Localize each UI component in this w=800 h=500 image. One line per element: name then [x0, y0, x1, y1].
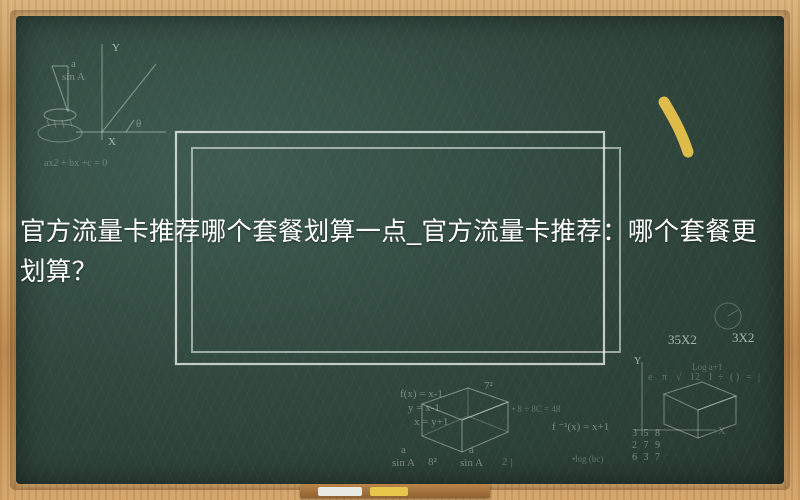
chalk-fx-line-2: y = x-1	[408, 402, 440, 414]
chalk-symbol-radical: √	[676, 372, 682, 383]
chalk-symbol-divide: ÷	[718, 372, 724, 383]
chalk-sine-rule-a: a sin A	[392, 444, 415, 470]
chalk-fx-line-1: f(x) = x-1	[400, 388, 443, 400]
chalk-number-12: 12	[690, 372, 700, 383]
chalk-digits-row-3: 6 3 7	[632, 452, 662, 463]
chalk-axis-x-right: X	[718, 426, 725, 437]
chalk-inverse-function: f ⁻¹(x) = x+1	[552, 420, 609, 433]
chalk-stick-yellow	[370, 487, 408, 496]
chalk-angle-label: θ	[136, 118, 141, 130]
page-title: 官方流量卡推荐哪个套餐划算一点_官方流量卡推荐：哪个套餐更划算？	[16, 212, 784, 292]
chalk-exp-7sq: 7²	[484, 380, 493, 392]
chalk-symbol-pi: π	[662, 372, 667, 383]
chalk-misc-expression: • 8 ÷ 8C = 48	[512, 404, 560, 414]
chalk-fx-line-3: x = y+1	[414, 416, 448, 428]
chalk-quadratic-equation: ax2 + bx +c = 0	[44, 158, 107, 169]
chalk-symbol-e: e	[648, 372, 652, 383]
chalk-symbol-equals: =	[746, 372, 752, 383]
chalk-symbol-parens: ( )	[730, 372, 739, 383]
banner-canvas: Y X θ a sin A ax2 + bx +c = 0 f(x) = x-1…	[0, 0, 800, 500]
chalk-log-a1: Log a+1	[692, 362, 722, 372]
chalk-digits-row-2: 2 7 9	[632, 440, 662, 451]
chalk-log-bc: •log (bc)	[572, 454, 603, 464]
chalk-exp-8sq: 8²	[428, 456, 437, 468]
chalk-sine-rule-top: a sin A	[62, 58, 85, 84]
chalk-symbol-bar: |	[758, 372, 760, 383]
chalk-axis-y: Y	[112, 42, 120, 54]
chalk-expr-3x2: 3X2	[732, 330, 754, 346]
chalk-axis-y-right: Y	[634, 356, 641, 367]
chalk-stick-white	[318, 487, 362, 496]
chalk-digits-row-1: 3 5 8	[632, 428, 662, 439]
chalk-fraction-2: 2 |	[502, 456, 512, 468]
chalk-number-1: 1	[708, 372, 713, 383]
chalk-sine-rule-b: a sin A	[460, 444, 483, 470]
chalkboard: Y X θ a sin A ax2 + bx +c = 0 f(x) = x-1…	[16, 16, 784, 484]
chalk-axis-x: X	[108, 136, 116, 148]
chalk-expr-35x2: 35X2	[668, 332, 697, 348]
